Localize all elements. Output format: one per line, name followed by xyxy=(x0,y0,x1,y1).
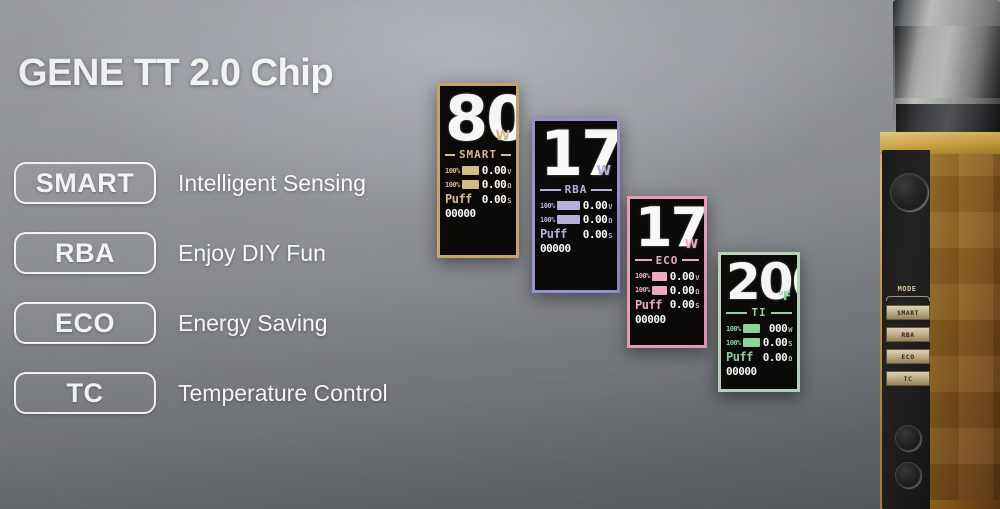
screen-unit: ℉ xyxy=(778,291,791,302)
mode-rule-left xyxy=(726,312,747,314)
readout-unit: W xyxy=(788,326,792,334)
battery-bar xyxy=(462,166,479,175)
battery-indicator-1: 100% xyxy=(540,201,580,210)
readout-resistance: 0.00Ω xyxy=(583,213,612,226)
readout-unit: Ω xyxy=(507,182,511,190)
feature-tag-label: ECO xyxy=(55,308,115,339)
fire-button[interactable] xyxy=(890,173,928,211)
battery-percent: 100% xyxy=(635,286,650,294)
feature-tag-rba: RBA xyxy=(14,232,156,274)
readout-unit: Ω xyxy=(608,217,612,225)
feature-tag-smart: SMART xyxy=(14,162,156,204)
readout-duration: 0.00S xyxy=(482,193,511,206)
feature-desc: Energy Saving xyxy=(178,310,328,337)
device-screen-smart: 80 W SMART 100% 0.00V 100% 0.00Ω Puff 0.… xyxy=(437,83,519,258)
screen-value-text: 80 xyxy=(445,83,519,155)
battery-percent: 100% xyxy=(445,181,460,189)
battery-bar xyxy=(557,215,580,224)
mode-rule-left xyxy=(635,259,652,261)
readout-value: 0.00 xyxy=(583,199,608,212)
product-device: MODE SMART RBA ECO TC xyxy=(800,0,1000,509)
readout-voltage: 0.00V xyxy=(482,164,511,177)
readout-value: 0.00 xyxy=(670,298,695,311)
readout-unit: S xyxy=(507,197,511,205)
feature-row-tc: TC Temperature Control xyxy=(14,358,484,428)
battery-percent: 100% xyxy=(635,272,650,280)
screen-unit: W xyxy=(496,131,510,143)
screen-wattage-value: 177 W xyxy=(540,125,612,182)
mode-menu-header: MODE xyxy=(886,285,928,293)
puff-count: 00000 xyxy=(635,313,667,326)
battery-indicator-1: 100% xyxy=(635,272,667,281)
battery-indicator-2: 100% xyxy=(635,286,667,295)
readout-duration: 0.00S xyxy=(670,298,699,311)
battery-percent: 100% xyxy=(540,216,555,224)
device-screen-eco: 177 W ECO 100% 0.00V 100% 0.00Ω Puff 0.0… xyxy=(627,196,707,348)
readout-resistance: 0.00Ω xyxy=(670,284,699,297)
battery-bar xyxy=(743,324,760,333)
mode-rule-right xyxy=(682,259,699,261)
feature-row-rba: RBA Enjoy DIY Fun xyxy=(14,218,484,288)
feature-desc: Intelligent Sensing xyxy=(178,170,366,197)
readout-voltage: 0.00V xyxy=(583,199,612,212)
feature-desc: Enjoy DIY Fun xyxy=(178,240,326,267)
puff-label: Puff xyxy=(445,192,479,206)
readout-duration: 0.00S xyxy=(763,336,792,349)
mode-button-label: SMART xyxy=(897,309,919,317)
battery-percent: 100% xyxy=(445,167,460,175)
battery-percent: 100% xyxy=(540,202,555,210)
adjust-down-button[interactable] xyxy=(895,462,921,488)
readout-value: 0.00 xyxy=(763,336,788,349)
readout-value: 0.00 xyxy=(670,284,695,297)
page-title: GENE TT 2.0 Chip xyxy=(18,52,333,95)
battery-bar xyxy=(652,286,667,295)
screen-unit: W xyxy=(685,239,698,250)
readout-wattage: 000W xyxy=(763,322,792,335)
battery-bar xyxy=(557,201,580,210)
feature-tag-label: RBA xyxy=(55,238,115,269)
mode-rule-right xyxy=(771,312,792,314)
readout-value: 0.00 xyxy=(482,164,507,177)
battery-indicator-1: 100% xyxy=(445,166,479,175)
readout-unit: Ω xyxy=(788,355,792,363)
readout-value: 0.00 xyxy=(482,193,507,206)
device-body-texture xyxy=(925,140,1000,500)
readout-value: 0.00 xyxy=(583,213,608,226)
readout-value: 0.00 xyxy=(670,270,695,283)
readout-duration: 0.00S xyxy=(583,228,612,241)
readout-unit: V xyxy=(507,168,511,176)
puff-count: 00000 xyxy=(445,207,479,220)
mode-menu-divider xyxy=(886,296,930,301)
device-mode-button-eco[interactable]: ECO xyxy=(886,349,930,364)
feature-row-smart: SMART Intelligent Sensing xyxy=(14,148,484,218)
device-screen-tc: 200 ℉ TI 100% 000W 100% 0.00S Puff 0.00Ω… xyxy=(718,252,800,392)
mode-button-label: TC xyxy=(904,375,913,383)
readout-unit: V xyxy=(695,274,699,282)
battery-indicator-2: 100% xyxy=(726,338,760,347)
readout-unit: S xyxy=(608,232,612,240)
screen-readout-grid: 100% 0.00V 100% 0.00Ω Puff 0.00S 00000 xyxy=(540,199,612,255)
mode-button-label: RBA xyxy=(901,331,914,339)
readout-resistance: 0.00Ω xyxy=(482,178,511,191)
battery-bar xyxy=(743,338,760,347)
screen-readout-grid: 100% 0.00V 100% 0.00Ω Puff 0.00S 00000 xyxy=(635,270,699,326)
screen-wattage-value: 80 W xyxy=(445,90,511,147)
puff-label: Puff xyxy=(726,350,760,364)
readout-value: 0.00 xyxy=(583,228,608,241)
feature-tag-label: TC xyxy=(67,378,104,409)
puff-count: 00000 xyxy=(540,242,580,255)
readout-unit: S xyxy=(695,302,699,310)
battery-bar xyxy=(652,272,667,281)
screen-unit: W xyxy=(597,166,611,178)
device-mode-button-rba[interactable]: RBA xyxy=(886,327,930,342)
feature-row-eco: ECO Energy Saving xyxy=(14,288,484,358)
feature-desc: Temperature Control xyxy=(178,380,388,407)
adjust-up-button[interactable] xyxy=(895,425,921,451)
puff-label: Puff xyxy=(540,227,580,241)
puff-count: 00000 xyxy=(726,365,760,378)
feature-tag-label: SMART xyxy=(36,168,135,199)
mode-button-label: ECO xyxy=(901,353,914,361)
battery-percent: 100% xyxy=(726,339,741,347)
device-mode-button-tc[interactable]: TC xyxy=(886,371,930,386)
battery-indicator-1: 100% xyxy=(726,324,760,333)
screen-value-text: 177 xyxy=(540,118,620,190)
readout-value: 000 xyxy=(769,322,787,335)
screen-readout-grid: 100% 000W 100% 0.00S Puff 0.00Ω 00000 xyxy=(726,322,792,378)
battery-percent: 100% xyxy=(726,325,741,333)
readout-voltage: 0.00V xyxy=(670,270,699,283)
device-mode-button-smart[interactable]: SMART xyxy=(886,305,930,320)
readout-value: 0.00 xyxy=(482,178,507,191)
puff-label: Puff xyxy=(635,298,667,312)
feature-list: SMART Intelligent Sensing RBA Enjoy DIY … xyxy=(14,148,484,428)
readout-unit: V xyxy=(608,203,612,211)
battery-indicator-2: 100% xyxy=(445,180,479,189)
battery-bar xyxy=(462,180,479,189)
readout-unit: S xyxy=(788,340,792,348)
screen-wattage-value: 177 W xyxy=(635,203,699,253)
product-banner: GENE TT 2.0 Chip SMART Intelligent Sensi… xyxy=(0,0,1000,509)
feature-tag-tc: TC xyxy=(14,372,156,414)
tank-glass xyxy=(895,26,1000,98)
readout-resistance: 0.00Ω xyxy=(763,351,792,364)
screen-temperature-value: 200 ℉ xyxy=(726,259,792,305)
battery-indicator-2: 100% xyxy=(540,215,580,224)
screen-readout-grid: 100% 0.00V 100% 0.00Ω Puff 0.00S 00000 xyxy=(445,164,511,220)
readout-unit: Ω xyxy=(695,288,699,296)
feature-tag-eco: ECO xyxy=(14,302,156,344)
readout-value: 0.00 xyxy=(763,351,788,364)
device-screen-rba: 177 W RBA 100% 0.00V 100% 0.00Ω Puff 0.0… xyxy=(532,118,620,293)
